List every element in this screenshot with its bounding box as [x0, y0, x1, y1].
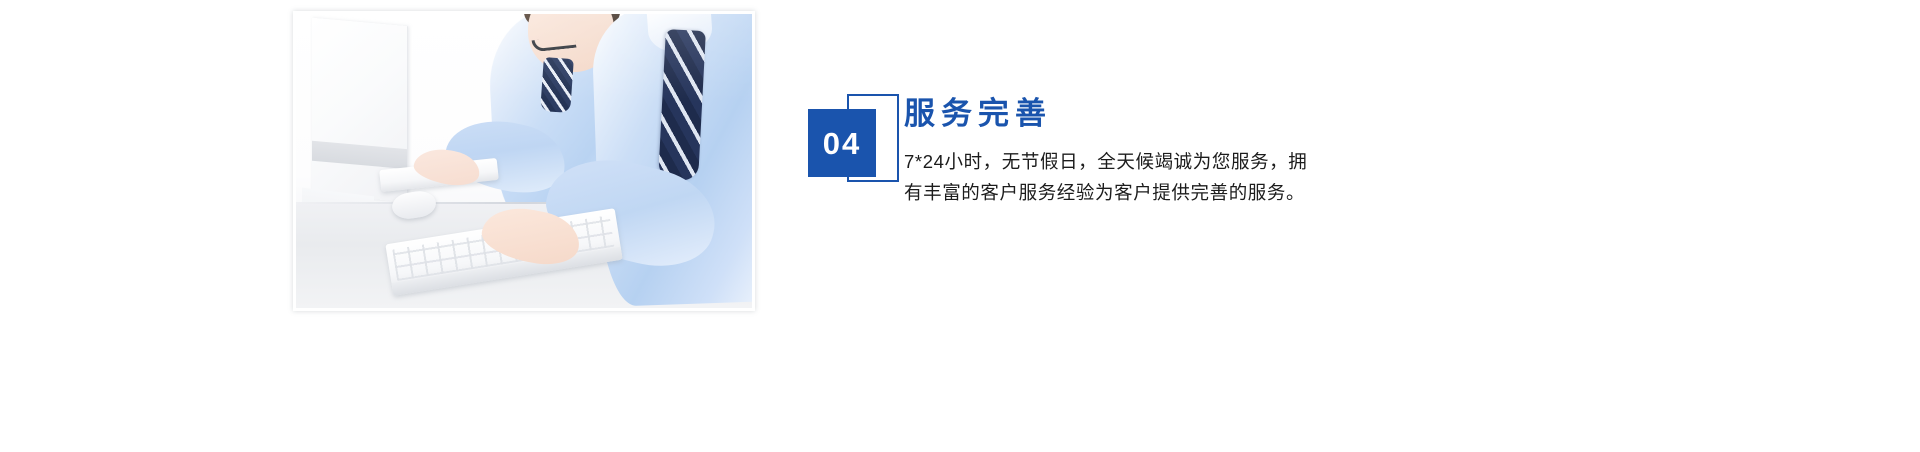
feature-photo	[296, 14, 752, 308]
feature-title: 服务完善	[904, 96, 1308, 132]
feature-text-column: 服务完善 7*24小时，无节假日，全天候竭诚为您服务，拥有丰富的客户服务经验为客…	[904, 94, 1308, 209]
feature-heading-row: 04 服务完善 7*24小时，无节假日，全天候竭诚为您服务，拥有丰富的客户服务经…	[808, 94, 1308, 209]
step-badge-box: 04	[808, 109, 876, 177]
feature-content: 04 服务完善 7*24小时，无节假日，全天候竭诚为您服务，拥有丰富的客户服务经…	[808, 94, 1308, 209]
person-front-tie-shape	[658, 29, 706, 181]
feature-description: 7*24小时，无节假日，全天候竭诚为您服务，拥有丰富的客户服务经验为客户提供完善…	[904, 146, 1308, 210]
step-badge-number: 04	[823, 128, 861, 159]
step-badge: 04	[808, 94, 900, 190]
person-back-tie-shape	[540, 57, 574, 113]
monitor-band-shape	[312, 141, 407, 169]
feature-photo-frame	[293, 11, 755, 311]
promo-banner: 04 服务完善 7*24小时，无节假日，全天候竭诚为您服务，拥有丰富的客户服务经…	[0, 0, 1920, 452]
